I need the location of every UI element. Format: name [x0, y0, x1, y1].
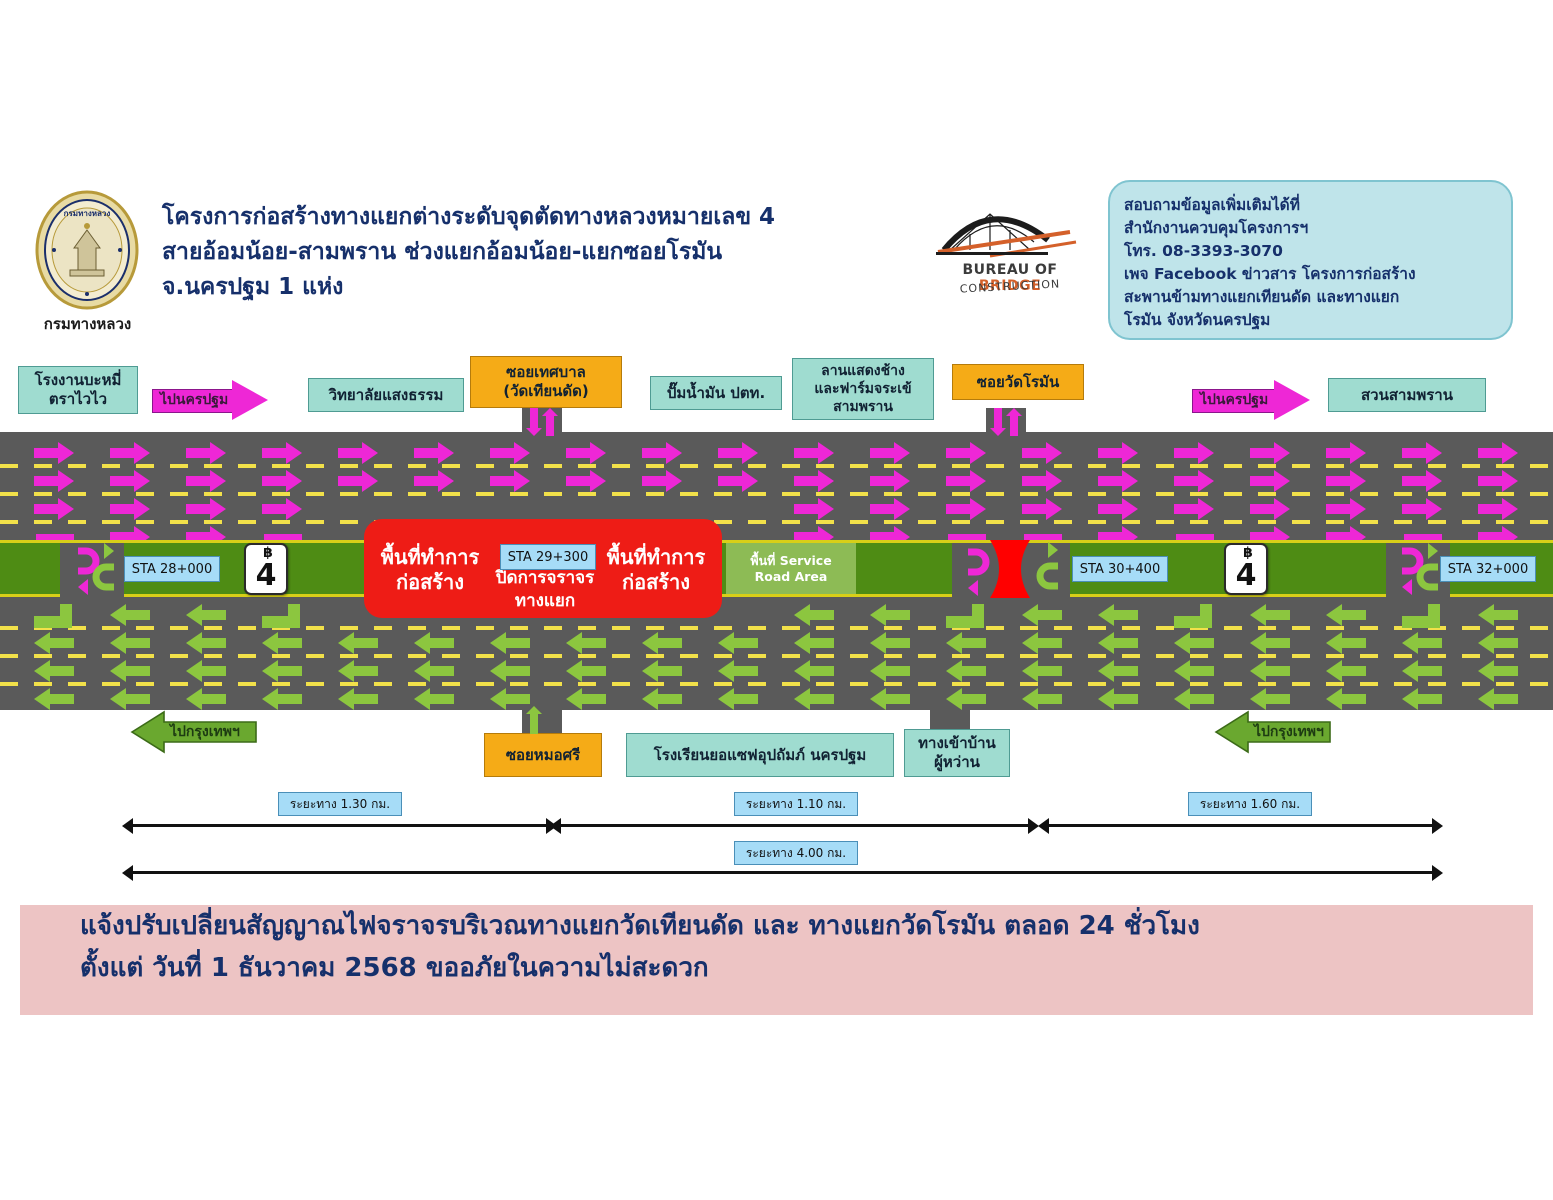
lane-arrow-northbound	[110, 496, 150, 522]
contact-phone: โทร. 08-3393-3070	[1124, 240, 1497, 263]
lane-arrow-southbound	[566, 658, 606, 684]
lane-arrow-northbound	[718, 468, 758, 494]
direction-arrow-to-nakhon-pathom-right: ไปนครปฐม	[1192, 380, 1312, 420]
lane-arrow-southbound	[794, 686, 834, 712]
lane-arrow-southbound	[338, 658, 378, 684]
lane-arrow-northbound	[1326, 468, 1366, 494]
label-ban-phu-wan-entrance[interactable]: ทางเข้าบ้าน ผู้หว่าน	[904, 729, 1010, 777]
lane-arrow-northbound	[338, 440, 378, 466]
work-zone-right-text: พื้นที่ทำการ ก่อสร้าง	[594, 545, 718, 595]
label-elephant-crocodile-farm[interactable]: ลานแสดงช้าง และฟาร์มจระเข้ สามพราน	[792, 358, 934, 420]
lane-arrow-southbound	[1174, 630, 1214, 656]
lane-arrow-northbound	[414, 468, 454, 494]
lane-arrow-northbound	[718, 440, 758, 466]
lane-arrow-southbound	[870, 658, 910, 684]
direction-arrow-to-nakhon-pathom-left: ไปนครปฐม	[152, 380, 268, 420]
lane-arrow-southbound	[1022, 630, 1062, 656]
lane-arrow-northbound	[1174, 496, 1214, 522]
lane-arrow-northbound	[1098, 468, 1138, 494]
lane-arrow-southbound	[1402, 686, 1442, 712]
no-uturn-symbol-soi-wat-roman	[958, 540, 1068, 598]
lane-arrow-northbound	[566, 440, 606, 466]
lane-arrow-southbound	[1402, 658, 1442, 684]
lane-arrow-southbound	[186, 686, 226, 712]
lane-arrow-southbound	[1174, 658, 1214, 684]
dimension-line-seg-3	[1046, 824, 1436, 827]
lane-arrow-southbound	[946, 686, 986, 712]
direction-arrow-to-bangkok-left: ไปกรุงเทพฯ	[130, 710, 258, 754]
lane-arrow-northbound	[490, 468, 530, 494]
label-saeng-tham-college[interactable]: วิทยาลัยแสงธรรม	[308, 378, 464, 412]
lane-arrow-southbound	[110, 630, 150, 656]
lane-arrow-northbound	[34, 496, 74, 522]
lane-arrow-southbound	[1250, 630, 1290, 656]
lane-arrow-northbound	[1098, 440, 1138, 466]
station-marker-sta-28-000: STA 28+000	[124, 556, 220, 582]
lane-arrow-northbound	[1478, 468, 1518, 494]
lane-arrow-southbound	[718, 658, 758, 684]
dimension-line-seg-2	[558, 824, 1032, 827]
work-zone-closed-text: ปิดการจราจร ทางแยก	[482, 567, 608, 613]
lane-arrow-northbound	[186, 496, 226, 522]
lane-arrow-northbound	[338, 468, 378, 494]
lane-arrow-southbound	[870, 686, 910, 712]
lane-arrow-northbound	[186, 468, 226, 494]
contact-line-1: สอบถามข้อมูลเพิ่มเติมได้ที่	[1124, 194, 1497, 217]
lane-arrow-northbound	[1326, 440, 1366, 466]
dimension-label-seg-2: ระยะทาง 1.10 กม.	[734, 792, 858, 816]
lane-arrow-southbound	[34, 658, 74, 684]
lane-arrow-northbound	[1326, 496, 1366, 522]
bureau-of-bridge-construction-logo: BUREAU OF BRIDGE CONSTRUCTION	[930, 190, 1090, 310]
banner-line-2: ตั้งแต่ วันที่ 1 ธันวาคม 2568 ขออภัยในคว…	[20, 947, 1533, 989]
lane-arrow-northbound	[1250, 496, 1290, 522]
shield-crown-icon: ฿	[246, 547, 290, 559]
lane-arrow-southbound	[110, 658, 150, 684]
bureau-logo-title-a: BUREAU OF	[963, 262, 1058, 278]
lane-arrow-southbound	[262, 658, 302, 684]
lane-arrow-northbound	[1022, 468, 1062, 494]
lane-arrow-northbound	[1478, 496, 1518, 522]
project-title-line-2: สายอ้อมน้อย-สามพราน ช่วงแยกอ้อมน้อย-แยกซ…	[162, 235, 922, 270]
department-of-highways-seal-icon: กรมทางหลวง	[30, 190, 145, 310]
dimension-arrowhead	[1432, 865, 1443, 881]
lane-arrow-southbound	[186, 658, 226, 684]
lane-arrow-northbound	[794, 496, 834, 522]
dimension-line-total	[130, 871, 1436, 874]
page-title: โครงการก่อสร้างทางแยกต่างระดับจุดตัดทางห…	[162, 200, 922, 305]
lane-arrow-southbound	[1402, 630, 1442, 656]
lane-arrow-northbound	[946, 440, 986, 466]
lane-arrow-northbound	[870, 468, 910, 494]
lane-arrow-southbound	[566, 686, 606, 712]
lane-arrow-southbound	[414, 630, 454, 656]
lane-arrow-southbound	[794, 602, 834, 628]
lane-arrow-southbound	[794, 658, 834, 684]
lane-arrow-southbound	[1022, 658, 1062, 684]
seal-caption: กรมทางหลวง	[25, 312, 150, 336]
lane-arrow-southbound	[946, 658, 986, 684]
lane-arrow-southbound	[642, 630, 682, 656]
lane-arrow-southbound	[262, 686, 302, 712]
contact-line-6: โรมัน จังหวัดนครปฐม	[1124, 309, 1497, 332]
label-joseph-school[interactable]: โรงเรียนยอแซฟอุปถัมภ์ นครปฐม	[626, 733, 894, 777]
announcement-banner: แจ้งปรับเปลี่ยนสัญญาณไฟจราจรบริเวณทางแยก…	[20, 905, 1533, 1015]
svg-text:กรมทางหลวง: กรมทางหลวง	[64, 209, 111, 218]
lane-arrow-southbound	[946, 630, 986, 656]
lane-arrow-southbound	[1478, 658, 1518, 684]
lane-arrow-southbound	[338, 630, 378, 656]
dimension-arrowhead	[122, 865, 133, 881]
label-ptt-gas-station[interactable]: ปั๊มน้ำมัน ปตท.	[650, 376, 782, 410]
lane-arrow-southbound	[1098, 630, 1138, 656]
lane-arrow-southbound	[262, 630, 302, 656]
lane-arrow-southbound	[1250, 686, 1290, 712]
station-marker-sta-30-400: STA 30+400	[1072, 556, 1168, 582]
lane-arrow-northbound	[1174, 440, 1214, 466]
lane-arrow-southbound	[1098, 658, 1138, 684]
lane-divider	[0, 682, 1553, 686]
dimension-arrowhead	[550, 818, 561, 834]
station-marker-sta-32-000: STA 32+000	[1440, 556, 1536, 582]
direction-arrow-to-bangkok-right: ไปกรุงเทพฯ	[1214, 710, 1332, 754]
lane-arrow-southbound	[110, 686, 150, 712]
lane-arrow-northbound	[1478, 440, 1518, 466]
label-soi-mo-sri[interactable]: ซอยหมอศรี	[484, 733, 602, 777]
lane-arrow-northbound	[186, 440, 226, 466]
direction-arrow-label: ไปกรุงเทพฯ	[170, 721, 240, 743]
lane-arrow-northbound	[262, 468, 302, 494]
lane-arrow-southbound	[718, 686, 758, 712]
lane-arrow-southbound	[1478, 630, 1518, 656]
project-title-line-3: จ.นครปฐม 1 แห่ง	[162, 270, 922, 305]
lane-arrow-southbound	[1326, 630, 1366, 656]
contact-facebook: เพจ Facebook ข่าวสาร โครงการก่อสร้าง	[1124, 263, 1497, 286]
contact-line-2: สำนักงานควบคุมโครงการฯ	[1124, 217, 1497, 240]
lane-arrow-southbound	[34, 630, 74, 656]
lane-divider	[0, 654, 1553, 658]
lane-arrow-southbound	[794, 630, 834, 656]
sideroad-arrow	[522, 706, 562, 734]
lane-arrow-northbound	[1250, 440, 1290, 466]
lane-arrow-northbound	[262, 496, 302, 522]
lane-arrow-northbound	[1098, 496, 1138, 522]
service-road-area-box: พื้นที่ Service Road Area	[726, 543, 856, 594]
lane-arrow-northbound	[794, 440, 834, 466]
lane-arrow-southbound	[490, 658, 530, 684]
dimension-arrowhead	[1432, 818, 1443, 834]
lane-divider	[0, 520, 1553, 524]
label-soi-thetsaban[interactable]: ซอยเทศบาล (วัดเทียนดัด)	[470, 356, 622, 408]
label-soi-wat-roman[interactable]: ซอยวัดโรมัน	[952, 364, 1084, 400]
work-zone-left-text: พื้นที่ทำการ ก่อสร้าง	[368, 545, 492, 595]
label-suan-sampran[interactable]: สวนสามพราน	[1328, 378, 1486, 412]
label-noodle-factory[interactable]: โรงงานบะหมี่ ตราไวไว	[18, 366, 138, 414]
shield-number: 4	[256, 561, 277, 593]
uturn-symbol-sta28	[66, 543, 126, 595]
diagram-root: กรมทางหลวง กรมทางหลวง โครงการก่อสร้างทาง…	[0, 0, 1553, 1200]
lane-arrow-southbound	[490, 630, 530, 656]
direction-arrow-label: ไปนครปฐม	[1200, 389, 1268, 411]
lane-arrow-northbound	[1402, 468, 1442, 494]
contact-info-box: สอบถามข้อมูลเพิ่มเติมได้ที่ สำนักงานควบค…	[1108, 180, 1513, 340]
lane-arrow-northbound	[566, 468, 606, 494]
lane-arrow-southbound	[718, 630, 758, 656]
dimension-arrowhead	[122, 818, 133, 834]
lane-arrow-northbound	[1022, 496, 1062, 522]
dimension-line-seg-1	[130, 824, 550, 827]
lane-arrow-southbound	[1022, 602, 1062, 628]
lane-arrow-southbound	[1250, 602, 1290, 628]
lane-arrow-southbound	[1250, 658, 1290, 684]
lane-arrow-northbound	[262, 440, 302, 466]
lane-arrow-northbound	[1402, 440, 1442, 466]
lane-arrow-southbound	[1098, 686, 1138, 712]
dimension-label-seg-1: ระยะทาง 1.30 กม.	[278, 792, 402, 816]
dimension-arrowhead	[1038, 818, 1049, 834]
lane-arrow-southbound	[414, 658, 454, 684]
sideroad-arrow	[522, 408, 562, 436]
lane-arrow-northbound	[794, 468, 834, 494]
direction-arrow-label: ไปนครปฐม	[160, 389, 228, 411]
lane-arrow-northbound	[1402, 496, 1442, 522]
contact-line-5: สะพานข้ามทางแยกเทียนดัด และทางแยก	[1124, 286, 1497, 309]
shield-number: 4	[1236, 561, 1257, 593]
lane-arrow-northbound	[110, 468, 150, 494]
lane-arrow-northbound	[34, 468, 74, 494]
dimension-label-seg-3: ระยะทาง 1.60 กม.	[1188, 792, 1312, 816]
lane-arrow-southbound	[1022, 686, 1062, 712]
lane-divider	[0, 626, 1553, 630]
project-title-line-1: โครงการก่อสร้างทางแยกต่างระดับจุดตัดทางห…	[162, 200, 922, 235]
lane-arrow-southbound	[1478, 686, 1518, 712]
lane-arrow-northbound	[414, 440, 454, 466]
lane-arrow-southbound	[642, 658, 682, 684]
lane-arrow-northbound	[1174, 468, 1214, 494]
lane-arrow-southbound	[1098, 602, 1138, 628]
direction-arrow-label: ไปกรุงเทพฯ	[1254, 721, 1324, 743]
shield-crown-icon: ฿	[1226, 547, 1270, 559]
lane-arrow-southbound	[1174, 686, 1214, 712]
lane-divider	[0, 464, 1553, 468]
lane-arrow-northbound	[642, 468, 682, 494]
lane-arrow-southbound	[1326, 602, 1366, 628]
lane-arrow-northbound	[870, 496, 910, 522]
lane-arrow-northbound	[1250, 468, 1290, 494]
sideroad-arrow	[986, 408, 1026, 436]
dimension-label-total: ระยะทาง 4.00 กม.	[734, 841, 858, 865]
lane-arrow-northbound	[642, 440, 682, 466]
lane-arrow-southbound	[642, 686, 682, 712]
lane-arrow-southbound	[1326, 658, 1366, 684]
lane-arrow-northbound	[870, 440, 910, 466]
route-shield-highway-4-left: ฿ 4	[244, 543, 288, 595]
lane-arrow-southbound	[566, 630, 606, 656]
lane-arrow-northbound	[946, 496, 986, 522]
lane-arrow-southbound	[870, 630, 910, 656]
banner-line-1: แจ้งปรับเปลี่ยนสัญญาณไฟจราจรบริเวณทางแยก…	[20, 905, 1533, 947]
lane-divider	[0, 492, 1553, 496]
lane-arrow-southbound	[186, 602, 226, 628]
lane-arrow-southbound	[1478, 602, 1518, 628]
lane-arrow-northbound	[490, 440, 530, 466]
lane-arrow-northbound	[34, 440, 74, 466]
lane-arrow-southbound	[110, 602, 150, 628]
lane-arrow-northbound	[946, 468, 986, 494]
route-shield-highway-4-right: ฿ 4	[1224, 543, 1268, 595]
station-marker-sta-29-300: STA 29+300	[500, 544, 596, 570]
lane-arrow-southbound	[34, 686, 74, 712]
lane-arrow-northbound	[110, 440, 150, 466]
lane-arrow-southbound	[870, 602, 910, 628]
lane-arrow-southbound	[338, 686, 378, 712]
lane-arrow-southbound	[414, 686, 454, 712]
lane-arrow-northbound	[1022, 440, 1062, 466]
lane-arrow-southbound	[186, 630, 226, 656]
lane-arrow-southbound	[1326, 686, 1366, 712]
